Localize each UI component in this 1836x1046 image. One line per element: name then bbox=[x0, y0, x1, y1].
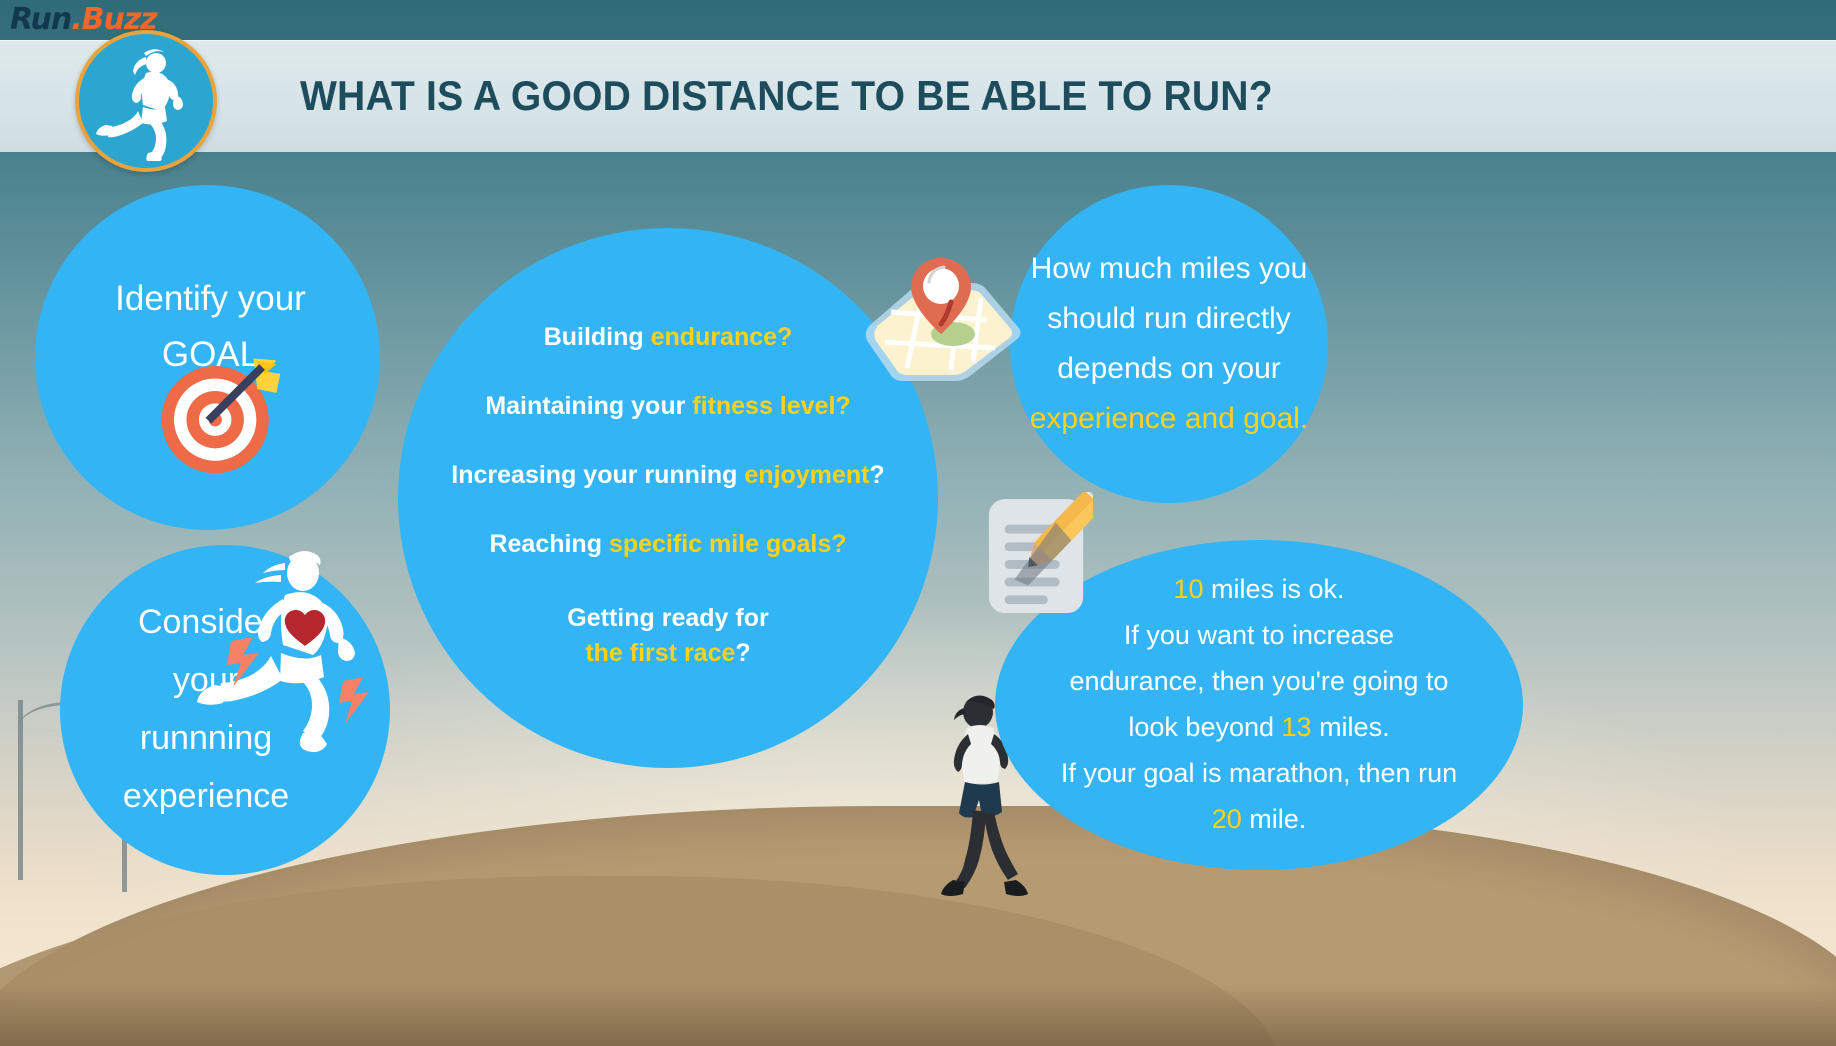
bubble-experience-line4: experience bbox=[123, 768, 289, 826]
page-title: WHAT IS A GOOD DISTANCE TO BE ABLE TO RU… bbox=[300, 40, 1602, 152]
logo-dot: . bbox=[71, 2, 81, 37]
infographic-canvas: Run.Buzz WHAT IS A GOOD DISTANCE TO BE A… bbox=[0, 0, 1836, 1046]
advice-line1-text: miles is ok. bbox=[1204, 574, 1345, 604]
logo-text-run: Run bbox=[10, 2, 71, 37]
reason-1-highlight: endurance? bbox=[651, 323, 793, 351]
reason-5-plain-after: ? bbox=[735, 639, 750, 667]
advice-line-3: endurance, then you're going to bbox=[1061, 659, 1457, 705]
advice-line6-text: mile. bbox=[1242, 804, 1307, 834]
bubble-advice-text: 10 miles is ok. If you want to increase … bbox=[1035, 567, 1483, 842]
advice-line-2: If you want to increase bbox=[1061, 613, 1457, 659]
bubble-reasons-list: Building endurance? Maintaining your fit… bbox=[437, 325, 898, 672]
advice-line-5: If your goal is marathon, then run bbox=[1061, 751, 1457, 797]
reason-3-plain: Increasing your running bbox=[451, 461, 744, 489]
advice-line-4: look beyond 13 miles. bbox=[1061, 705, 1457, 751]
reason-item-4: Reaching specific mile goals? bbox=[451, 532, 884, 557]
reason-3-highlight: enjoyment bbox=[744, 461, 869, 489]
map-pin-icon bbox=[855, 250, 1025, 390]
bubble-how-much-miles: How much miles you should run directly d… bbox=[1010, 185, 1328, 503]
reason-2-plain: Maintaining your bbox=[485, 392, 692, 420]
bubble-miles-plain: How much miles you should run directly d… bbox=[1031, 252, 1308, 385]
reason-4-highlight: specific mile goals? bbox=[609, 530, 847, 558]
bubble-miles-highlight: experience and goal. bbox=[1030, 402, 1309, 435]
reason-4-plain: Reaching bbox=[489, 530, 608, 558]
reason-5-plain: Getting ready for bbox=[567, 604, 768, 632]
advice-num-20: 20 bbox=[1212, 804, 1242, 834]
top-strip bbox=[0, 0, 1836, 40]
reason-5-highlight: the first race bbox=[585, 639, 735, 667]
reason-3-plain-after: ? bbox=[869, 461, 884, 489]
reason-item-2: Maintaining your fitness level? bbox=[451, 394, 884, 419]
note-pencil-icon bbox=[985, 492, 1093, 627]
advice-line4-text-b: miles. bbox=[1312, 712, 1390, 742]
reason-1-plain: Building bbox=[544, 323, 651, 351]
ground-shadow bbox=[0, 984, 1836, 1046]
advice-line-6: 20 mile. bbox=[1061, 797, 1457, 843]
running-woman-icon bbox=[86, 41, 206, 161]
runner-badge bbox=[75, 30, 217, 172]
bubble-goal-line1: Identify your bbox=[115, 271, 306, 326]
advice-line-1: 10 miles is ok. bbox=[1061, 567, 1457, 613]
runner-heart-icon bbox=[185, 545, 370, 770]
reason-2-highlight: fitness level? bbox=[692, 392, 850, 420]
advice-num-10: 10 bbox=[1173, 574, 1203, 604]
bubble-miles-text: How much miles you should run directly d… bbox=[1010, 244, 1328, 443]
target-arrow-icon bbox=[152, 345, 286, 479]
reason-item-1: Building endurance? bbox=[451, 325, 884, 350]
reason-item-5: Getting ready for the first race? bbox=[451, 601, 884, 672]
reason-item-3: Increasing your running enjoyment? bbox=[451, 463, 884, 488]
advice-line4-text-a: look beyond bbox=[1128, 712, 1281, 742]
advice-num-13: 13 bbox=[1282, 712, 1312, 742]
